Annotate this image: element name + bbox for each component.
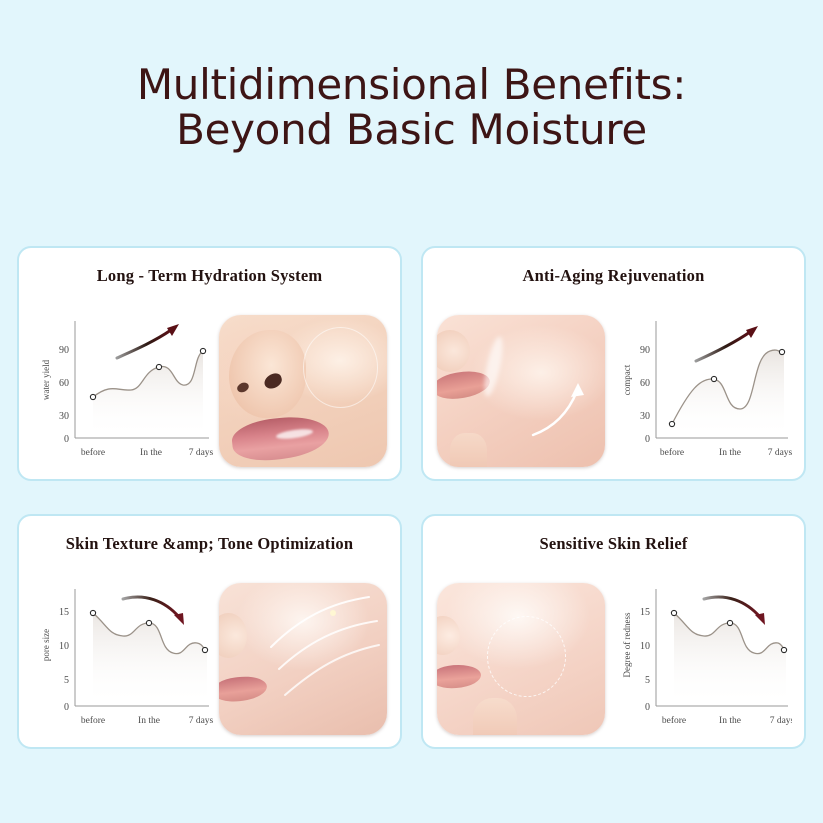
benefit-card-skin-texture-tone[interactable]: Skin Texture &amp; Tone Optimization — [17, 514, 402, 749]
y-tick-label: 90 — [59, 345, 69, 356]
x-tick-label: In the — [719, 448, 741, 458]
line-chart-svg: 90 60 30 0 compact before In the 7 days — [606, 305, 792, 477]
trend-arrow-down — [123, 597, 179, 617]
x-tick-label: before — [81, 715, 105, 726]
x-tick-label: In the — [719, 716, 741, 726]
y-tick-label: 0 — [645, 702, 650, 713]
photo-panel — [435, 579, 606, 739]
y-tick-label: 5 — [64, 675, 69, 686]
chart-skin-texture-tone: 15 10 5 0 pore size before In the 7 days — [31, 573, 217, 745]
data-point — [671, 610, 676, 615]
page-title-line2: Beyond Basic Moisture — [0, 107, 823, 152]
y-axis-label: compact — [622, 364, 632, 395]
benefit-card-long-term-hydration[interactable]: Long - Term Hydration System — [17, 246, 402, 481]
y-tick-label: 10 — [59, 641, 69, 652]
y-tick-label: 15 — [640, 607, 650, 618]
hydration-patch-outline — [303, 327, 379, 408]
x-tick-label: In the — [138, 716, 160, 726]
x-tick-label: 7 days — [770, 716, 792, 726]
card-title: Sensitive Skin Relief — [423, 534, 804, 554]
y-tick-label: 0 — [645, 434, 650, 445]
data-point — [669, 421, 674, 426]
curve-fill — [93, 613, 207, 706]
photo-jawline-lift — [437, 315, 605, 467]
data-point — [711, 376, 716, 381]
photo-panel — [217, 579, 388, 739]
x-tick-label: In the — [140, 448, 162, 458]
page-title: Multidimensional Benefits: Beyond Basic … — [0, 62, 823, 153]
trend-arrow-down — [704, 597, 760, 617]
data-point — [146, 620, 151, 625]
y-tick-label: 30 — [640, 411, 650, 422]
data-point — [156, 364, 161, 369]
curve-fill — [93, 351, 203, 438]
card-title: Skin Texture &amp; Tone Optimization — [19, 534, 400, 554]
trend-arrow-up — [117, 330, 171, 358]
x-tick-label: 7 days — [189, 448, 214, 458]
y-tick-label: 90 — [640, 345, 650, 356]
card-title: Long - Term Hydration System — [19, 266, 400, 286]
white-arrow-head — [571, 383, 584, 397]
page-title-line1: Multidimensional Benefits: — [137, 60, 686, 109]
data-point — [202, 647, 207, 652]
trend-arrow-head — [755, 613, 765, 625]
chart-long-term-hydration: 90 60 30 0 water yield — [31, 305, 217, 477]
trend-arrow-head — [746, 326, 758, 338]
data-point — [779, 349, 784, 354]
sparkle-icon — [330, 610, 336, 616]
x-tick-label: before — [81, 447, 105, 458]
white-arrow-up-icon — [533, 391, 577, 435]
y-tick-label: 0 — [64, 434, 69, 445]
card-body: 90 60 30 0 compact before In the 7 days — [423, 298, 804, 481]
photo-panel — [435, 311, 606, 471]
trend-arrow-head — [167, 324, 179, 336]
card-body: 90 60 30 0 water yield — [19, 298, 400, 481]
y-tick-label: 30 — [59, 411, 69, 422]
y-tick-label: 60 — [59, 378, 69, 389]
y-axis-label: Degree of redness — [622, 612, 632, 677]
treatment-zone-circle — [487, 616, 566, 697]
x-tick-label: before — [660, 447, 684, 458]
curve-fill — [672, 350, 784, 438]
photo-cheek-calm — [437, 583, 605, 735]
photo-cheek-texture — [219, 583, 387, 735]
texture-swoosh-overlay — [219, 583, 387, 735]
y-tick-label: 5 — [645, 675, 650, 686]
y-tick-label: 60 — [640, 378, 650, 389]
curve-fill — [674, 613, 786, 706]
trend-arrow-up — [696, 332, 750, 361]
data-point — [90, 610, 95, 615]
y-axis-label: pore size — [41, 628, 51, 660]
card-title: Anti-Aging Rejuvenation — [423, 266, 804, 286]
data-point — [781, 647, 786, 652]
y-tick-label: 10 — [640, 641, 650, 652]
chart-anti-aging-rejuvenation: 90 60 30 0 compact before In the 7 days — [606, 305, 792, 477]
x-tick-label: before — [662, 715, 686, 726]
benefit-card-sensitive-skin-relief[interactable]: Sensitive Skin Relief — [421, 514, 806, 749]
data-point — [727, 620, 732, 625]
benefit-card-anti-aging-rejuvenation[interactable]: Anti-Aging Rejuvenation — [421, 246, 806, 481]
line-chart-svg: 15 10 5 0 pore size before In the 7 days — [31, 573, 217, 745]
y-tick-label: 0 — [64, 702, 69, 713]
trend-arrow-head — [174, 613, 184, 625]
photo-hydration-nose-lips — [219, 315, 387, 467]
card-body: 15 10 5 0 Degree of redness before In th… — [423, 566, 804, 749]
chart-sensitive-skin-relief: 15 10 5 0 Degree of redness before In th… — [606, 573, 792, 745]
x-tick-label: 7 days — [189, 716, 214, 726]
data-point — [200, 348, 205, 353]
y-tick-label: 15 — [59, 607, 69, 618]
y-axis-label: water yield — [41, 359, 51, 400]
x-tick-label: 7 days — [768, 448, 792, 458]
lift-arrow-overlay — [437, 315, 605, 467]
line-chart-svg: 15 10 5 0 Degree of redness before In th… — [606, 573, 792, 745]
finger-shape — [473, 698, 517, 734]
card-body: 15 10 5 0 pore size before In the 7 days — [19, 566, 400, 749]
nose-shape — [229, 330, 306, 418]
data-point — [90, 394, 95, 399]
photo-panel — [217, 311, 388, 471]
line-chart-svg: 90 60 30 0 water yield — [31, 305, 217, 477]
benefit-card-grid: Long - Term Hydration System — [17, 246, 806, 749]
